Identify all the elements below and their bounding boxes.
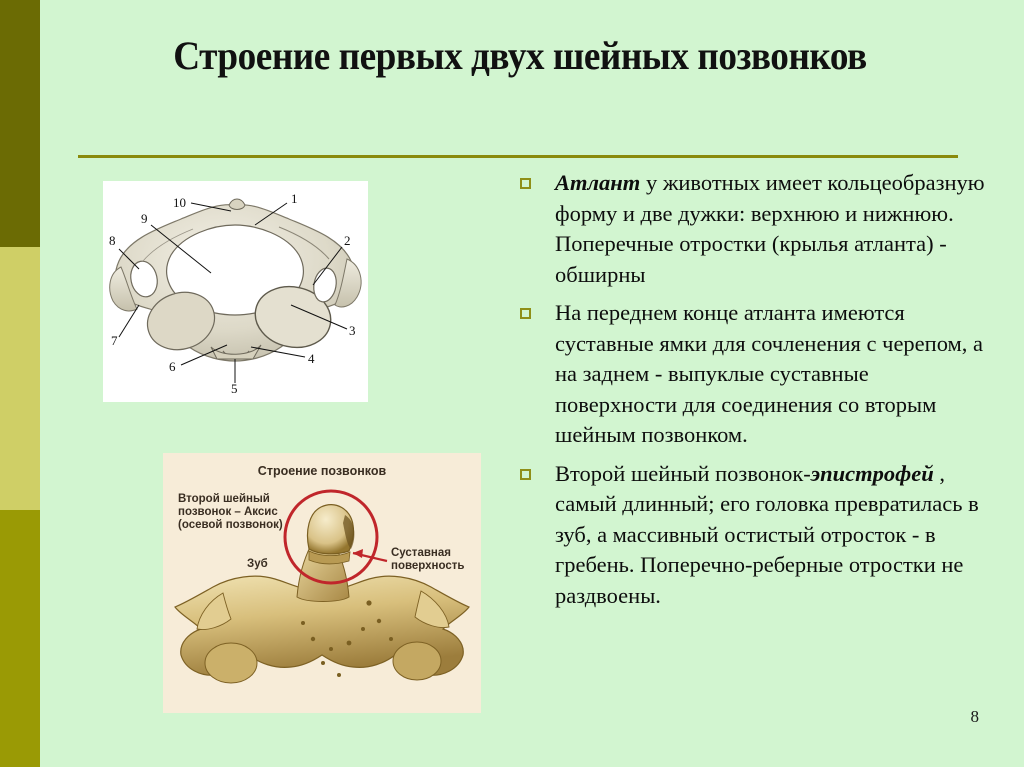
atlas-label-3: 3	[349, 323, 356, 338]
bullet-1-lead: Атлант	[555, 170, 640, 195]
slide-canvas: Строение первых двух шейных позвонков	[0, 0, 1024, 767]
axis-label-tooth: Зуб	[247, 558, 268, 571]
atlas-label-10: 10	[173, 195, 186, 210]
list-item: На переднем конце атланта имеются сустав…	[520, 298, 990, 451]
atlas-label-5: 5	[231, 381, 238, 396]
figure-axis-vertebra: Строение позвонков Второй шейныйпозвонок…	[163, 453, 481, 713]
atlas-label-4: 4	[308, 351, 315, 366]
sidebar-band-olive	[0, 510, 40, 767]
bullet-text-1: Атлант у животных имеет кольцеобразную ф…	[555, 168, 990, 290]
axis-right-inferior-process	[393, 642, 441, 680]
axis-figure-subtitle: Второй шейныйпозвонок – Аксис(осевой поз…	[178, 493, 283, 532]
axis-label-articular-surface: Суставнаяповерхность	[391, 547, 464, 573]
square-bullet-icon	[520, 469, 531, 480]
atlas-label-2: 2	[344, 233, 351, 248]
bullet-list: Атлант у животных имеет кольцеобразную ф…	[520, 168, 990, 619]
page-number: 8	[971, 707, 980, 727]
atlas-label-8: 8	[109, 233, 116, 248]
axis-left-inferior-process	[205, 643, 257, 683]
square-bullet-icon	[520, 308, 531, 319]
axis-vertebra-illustration	[163, 453, 481, 713]
left-accent-sidebar	[0, 0, 40, 767]
atlas-label-7: 7	[111, 333, 118, 348]
sidebar-band-dark-olive	[0, 0, 40, 247]
title-divider-rule	[78, 155, 958, 158]
list-item: Второй шейный позвонок-эпистрофей , самы…	[520, 459, 990, 612]
axis-figure-title: Строение позвонков	[163, 465, 481, 478]
atlas-label-9: 9	[141, 211, 148, 226]
atlas-vertebra-illustration: 10 1 9 2 3 4 5 6 7 8	[103, 181, 368, 402]
bullet-3-lead: эпистрофей	[811, 461, 934, 486]
bullet-text-2: На переднем конце атланта имеются сустав…	[555, 298, 990, 451]
bullet-text-3: Второй шейный позвонок-эпистрофей , самы…	[555, 459, 990, 612]
bullet-3-before: Второй шейный позвонок-	[555, 461, 811, 486]
atlas-dorsal-tubercle	[229, 199, 245, 210]
sidebar-band-pale-olive	[0, 247, 40, 510]
slide-title: Строение первых двух шейных позвонков	[92, 32, 948, 79]
atlas-label-6: 6	[169, 359, 176, 374]
figure-atlas-vertebra: 10 1 9 2 3 4 5 6 7 8	[103, 181, 368, 402]
atlas-label-1: 1	[291, 191, 298, 206]
square-bullet-icon	[520, 178, 531, 189]
list-item: Атлант у животных имеет кольцеобразную ф…	[520, 168, 990, 290]
